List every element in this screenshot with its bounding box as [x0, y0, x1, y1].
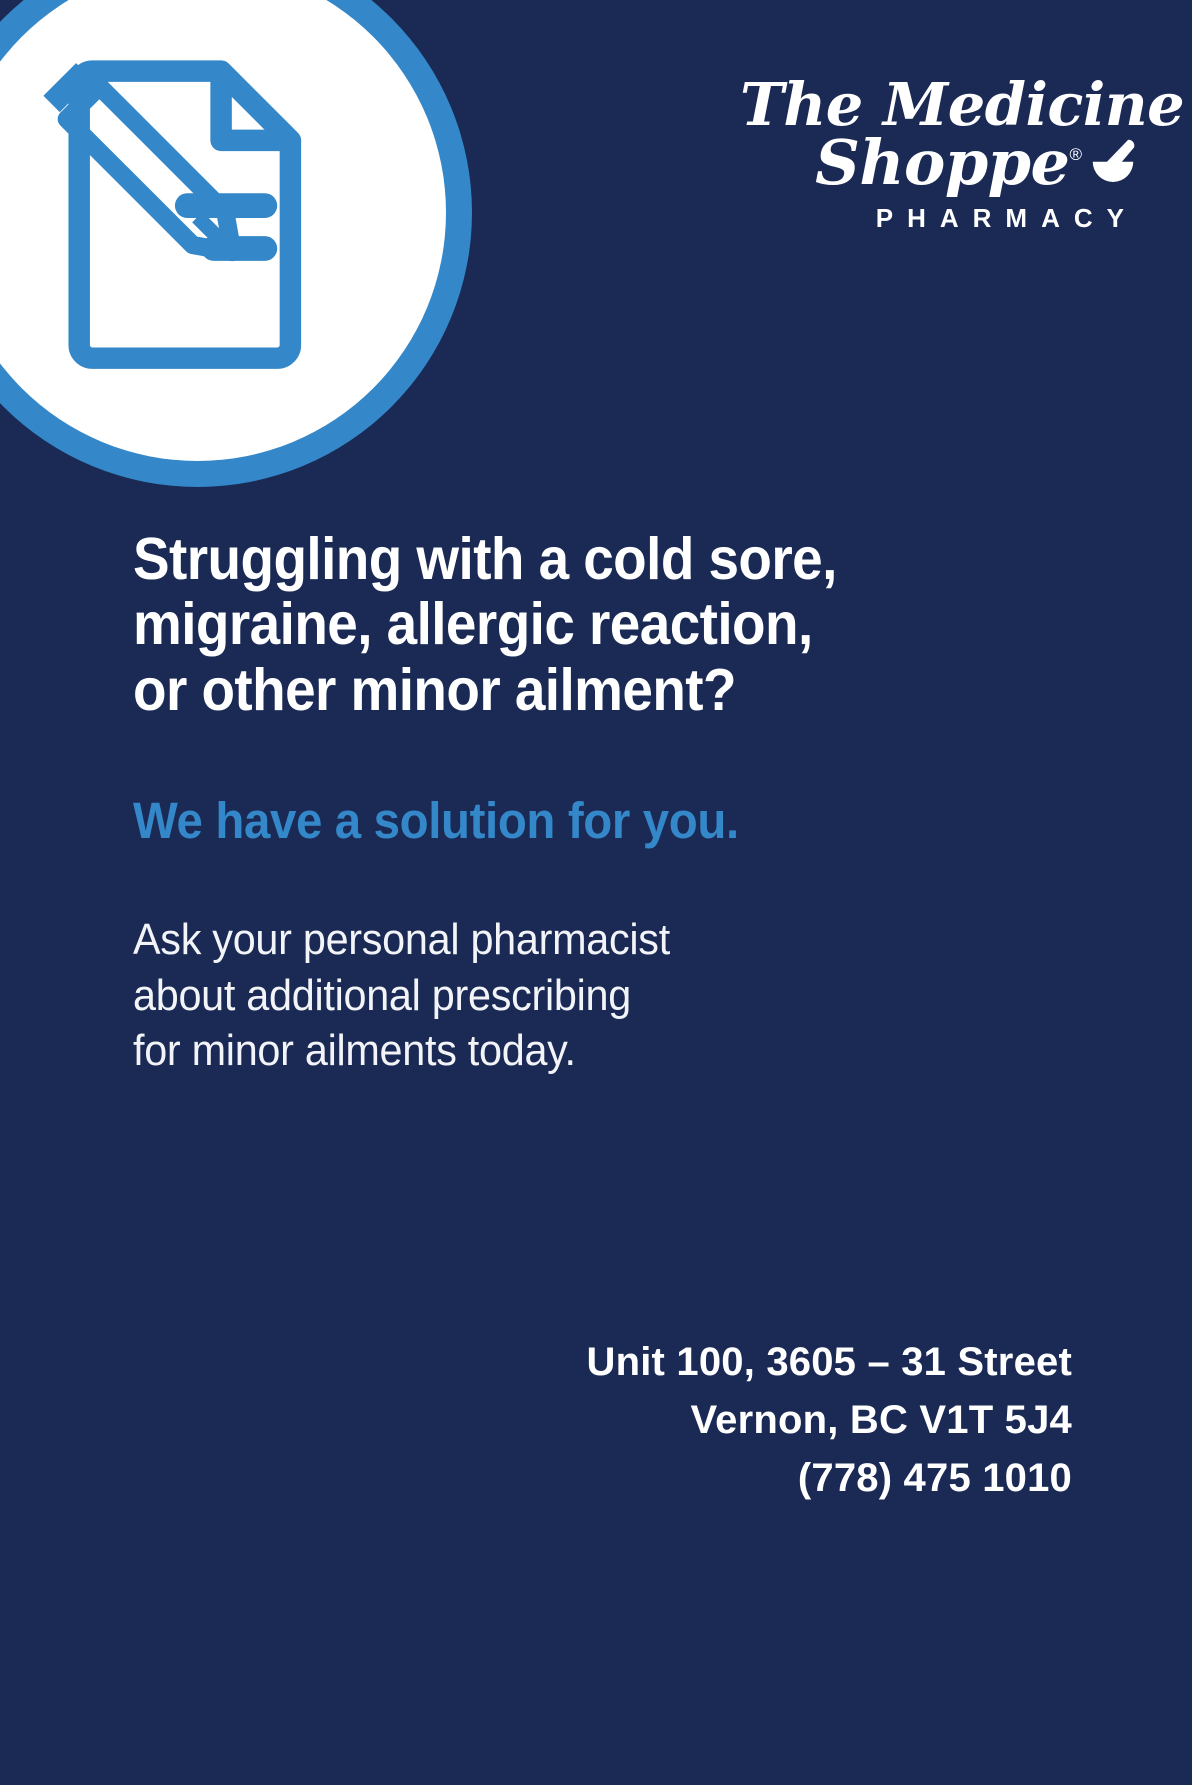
page-headline: Struggling with a cold sore, migraine, a…: [133, 527, 1006, 723]
badge-circle: [0, 0, 472, 487]
address-phone[interactable]: (778) 475 1010: [587, 1449, 1072, 1507]
headline-line-1: Struggling with a cold sore,: [133, 527, 1006, 592]
body-line-2: about additional prescribing: [133, 968, 1016, 1023]
logo-line-shoppe: Shoppe: [815, 134, 1069, 191]
document-pencil-icon: [33, 48, 363, 378]
logo-line-the-medicine: The Medicine: [740, 78, 1140, 132]
body-copy: Ask your personal pharmacist about addit…: [133, 850, 1016, 1078]
headline-line-3: or other minor ailment?: [133, 658, 1006, 723]
headline-line-2: migraine, allergic reaction,: [133, 592, 1006, 657]
registered-trademark-icon: ®: [1069, 145, 1082, 165]
address-city-postal: Vernon, BC V1T 5J4: [587, 1391, 1072, 1449]
body-line-1: Ask your personal pharmacist: [133, 912, 1016, 967]
store-address-block: Unit 100, 3605 – 31 Street Vernon, BC V1…: [587, 1333, 1072, 1507]
subheadline: We have a solution for you.: [133, 723, 1006, 850]
content-block: Struggling with a cold sore, migraine, a…: [133, 527, 1072, 1079]
logo-line-shoppe-row: Shoppe ®: [740, 134, 1140, 191]
brand-logo: The Medicine Shoppe ® PHARMACY: [740, 78, 1140, 234]
logo-pharmacy-word: PHARMACY: [740, 203, 1140, 234]
mortar-and-pestle-icon: [1086, 133, 1140, 187]
poster-canvas: The Medicine Shoppe ® PHARMACY Strugglin…: [0, 0, 1192, 1785]
address-street: Unit 100, 3605 – 31 Street: [587, 1333, 1072, 1391]
body-line-3: for minor ailments today.: [133, 1023, 1016, 1078]
